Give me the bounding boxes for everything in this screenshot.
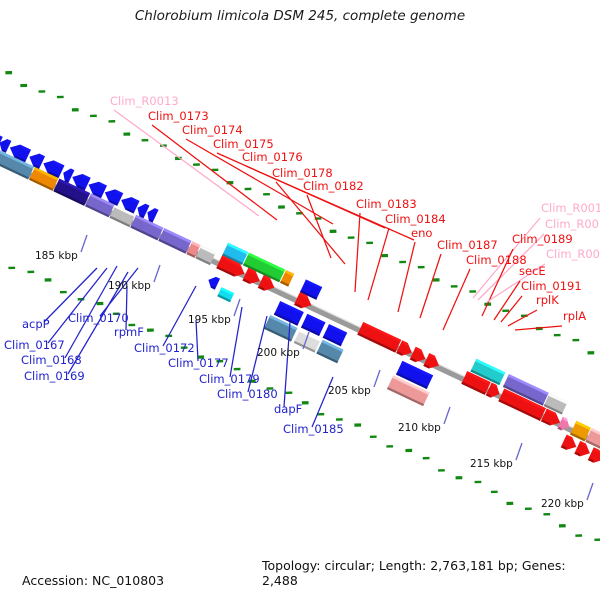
gene-feature[interactable] [130, 215, 163, 240]
label-leader-line [508, 310, 537, 326]
gene-label[interactable]: Clim_R0017 [546, 247, 600, 261]
gene-label[interactable]: Clim_R0013 [110, 94, 179, 108]
gene-label[interactable]: Clim_0189 [512, 232, 573, 246]
gene-label[interactable]: Clim_0187 [437, 238, 498, 252]
label-leader-line [307, 195, 331, 258]
gene-feature[interactable] [158, 228, 191, 253]
gene-label[interactable]: Clim_0178 [272, 166, 333, 180]
gene-label[interactable]: Clim_0170 [68, 311, 129, 325]
gene-label[interactable]: Clim_0191 [521, 279, 582, 293]
gene-label[interactable]: Clim_0172 [134, 341, 195, 355]
gene-label[interactable]: Clim_0183 [356, 197, 417, 211]
gene-label[interactable]: Clim_0173 [148, 109, 209, 123]
gene-label[interactable]: rplK [536, 293, 559, 307]
gene-label[interactable]: rplA [563, 309, 586, 323]
gene-label[interactable]: acpP [22, 317, 50, 331]
gene-label[interactable]: Clim_0177 [168, 356, 229, 370]
scale-tick-label: 205 kbp [328, 385, 371, 397]
accession-text: Accession: NC_010803 [22, 573, 164, 588]
scale-tick-label: 215 kbp [470, 458, 513, 470]
gene-label[interactable]: Clim_0168 [21, 353, 82, 367]
label-leader-line [48, 268, 107, 343]
gene-label[interactable]: Clim_0169 [24, 369, 85, 383]
gene-feature[interactable] [206, 274, 220, 289]
gene-label[interactable]: Clim_0167 [4, 338, 65, 352]
gene-label[interactable]: Clim_0180 [217, 387, 278, 401]
scale-tick-label: 200 kbp [257, 347, 300, 359]
gene-feature-layer [0, 130, 600, 539]
gene-feature[interactable] [357, 322, 401, 353]
label-leader-line [420, 254, 441, 318]
gene-feature[interactable] [217, 287, 234, 302]
scale-tick-label: 210 kbp [398, 422, 441, 434]
gene-label[interactable]: Clim_0185 [283, 422, 344, 436]
gene-label[interactable]: Clim_0176 [242, 150, 303, 164]
gene-label[interactable]: secE [519, 264, 546, 278]
label-leader-line [443, 269, 470, 330]
gene-label[interactable]: dapF [274, 402, 302, 416]
scale-tick-label: 220 kbp [541, 498, 584, 510]
label-leader-line [398, 242, 415, 312]
gene-label[interactable]: rpmF [114, 325, 144, 339]
gene-label[interactable]: Clim_0175 [213, 137, 274, 151]
scale-tick-label: 190 kbp [108, 280, 151, 292]
label-leader-line [196, 320, 198, 361]
label-leader-line [355, 213, 360, 292]
label-leader-line [100, 268, 138, 316]
gene-label[interactable]: Clim_0182 [303, 179, 364, 193]
scale-tick-layer: 185 kbp190 kbp195 kbp200 kbp205 kbp210 k… [35, 235, 593, 510]
scale-tick-label: 185 kbp [35, 250, 78, 262]
genome-map-canvas: 185 kbp190 kbp195 kbp200 kbp205 kbp210 k… [0, 0, 600, 600]
gene-label[interactable]: eno [411, 226, 432, 240]
gene-label[interactable]: Clim_0174 [182, 123, 243, 137]
gene-feature[interactable] [588, 447, 600, 466]
genome-map-view: Chlorobium limicola DSM 245, complete ge… [0, 0, 600, 600]
label-leader-line [368, 228, 389, 300]
label-leader-line [230, 307, 242, 377]
scale-tick-label: 195 kbp [188, 314, 231, 326]
gene-label[interactable]: Clim_R0015 [541, 201, 600, 215]
gene-label[interactable]: Clim_0188 [466, 253, 527, 267]
gene-label[interactable]: Clim_R0014 [545, 217, 600, 231]
gene-label[interactable]: Clim_0184 [385, 212, 446, 226]
gene-label[interactable]: Clim_0179 [199, 372, 260, 386]
label-leader-line [501, 296, 522, 322]
genome-stats-text: Topology: circular; Length: 2,763,181 bp… [262, 558, 600, 588]
